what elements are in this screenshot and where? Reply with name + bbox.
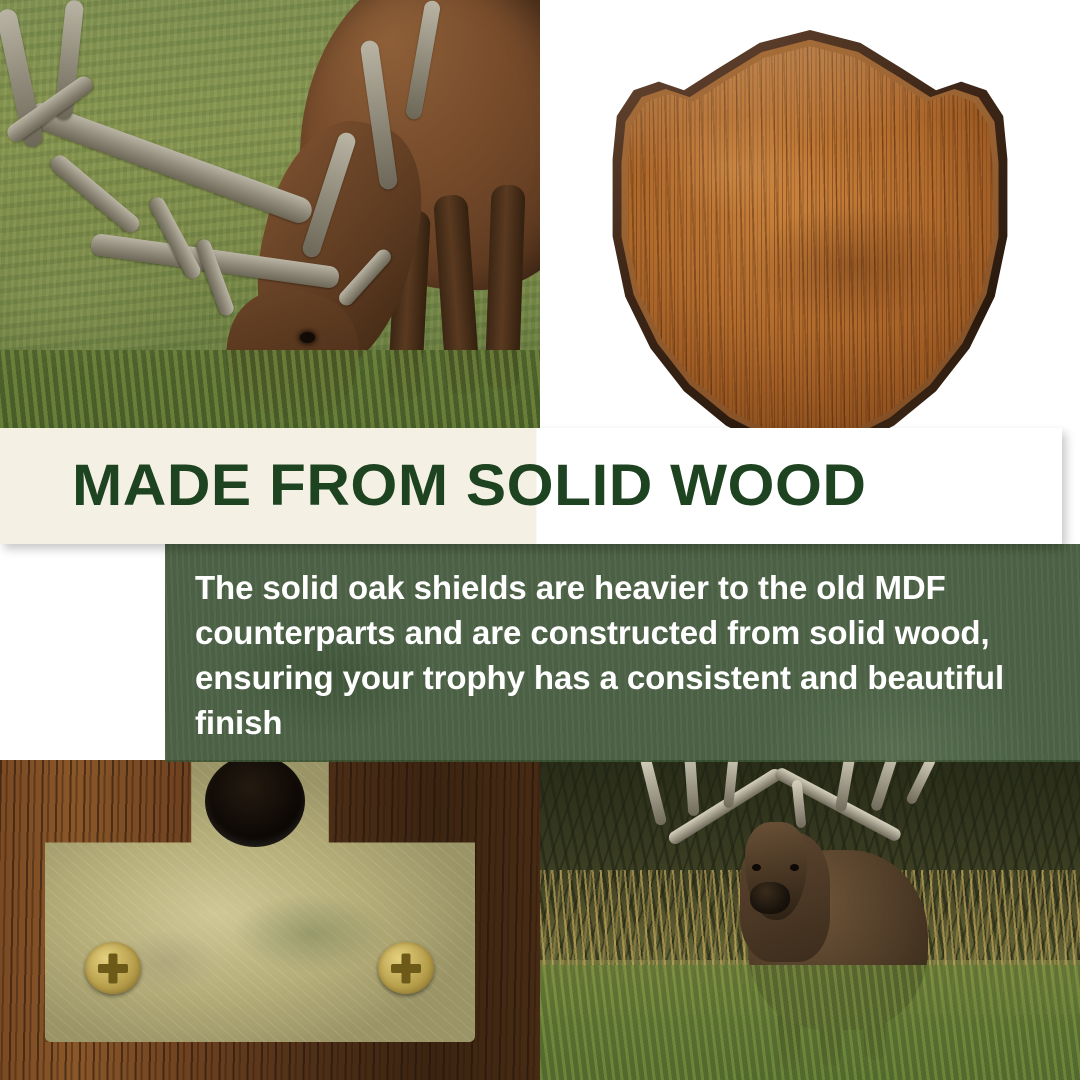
description-text: The solid oak shields are heavier to the… <box>165 544 1080 746</box>
screw-slot <box>109 953 118 983</box>
headline-text: MADE FROM SOLID WOOD <box>72 457 867 515</box>
phillips-screw <box>85 942 141 994</box>
foreground-turf <box>540 965 1080 1080</box>
photo-red-deer-stag-standing <box>540 760 1080 1080</box>
stag-eye <box>790 864 799 871</box>
photo-keyhole-hanging-bracket <box>0 760 540 1080</box>
headline-band: MADE FROM SOLID WOOD <box>0 428 1062 544</box>
phillips-screw <box>378 942 434 994</box>
stag-eye <box>300 332 315 343</box>
stag-muzzle <box>750 882 790 914</box>
stag-eye <box>752 864 761 871</box>
foreground-grass <box>0 350 540 430</box>
photo-red-deer-stag-grazing <box>0 0 540 430</box>
screw-slot <box>402 953 411 983</box>
photo-solid-oak-shield-plaque <box>540 0 1080 430</box>
description-panel: The solid oak shields are heavier to the… <box>165 544 1080 762</box>
oak-shield <box>600 30 1020 430</box>
product-feature-poster: MADE FROM SOLID WOOD The solid oak shiel… <box>0 0 1080 1080</box>
